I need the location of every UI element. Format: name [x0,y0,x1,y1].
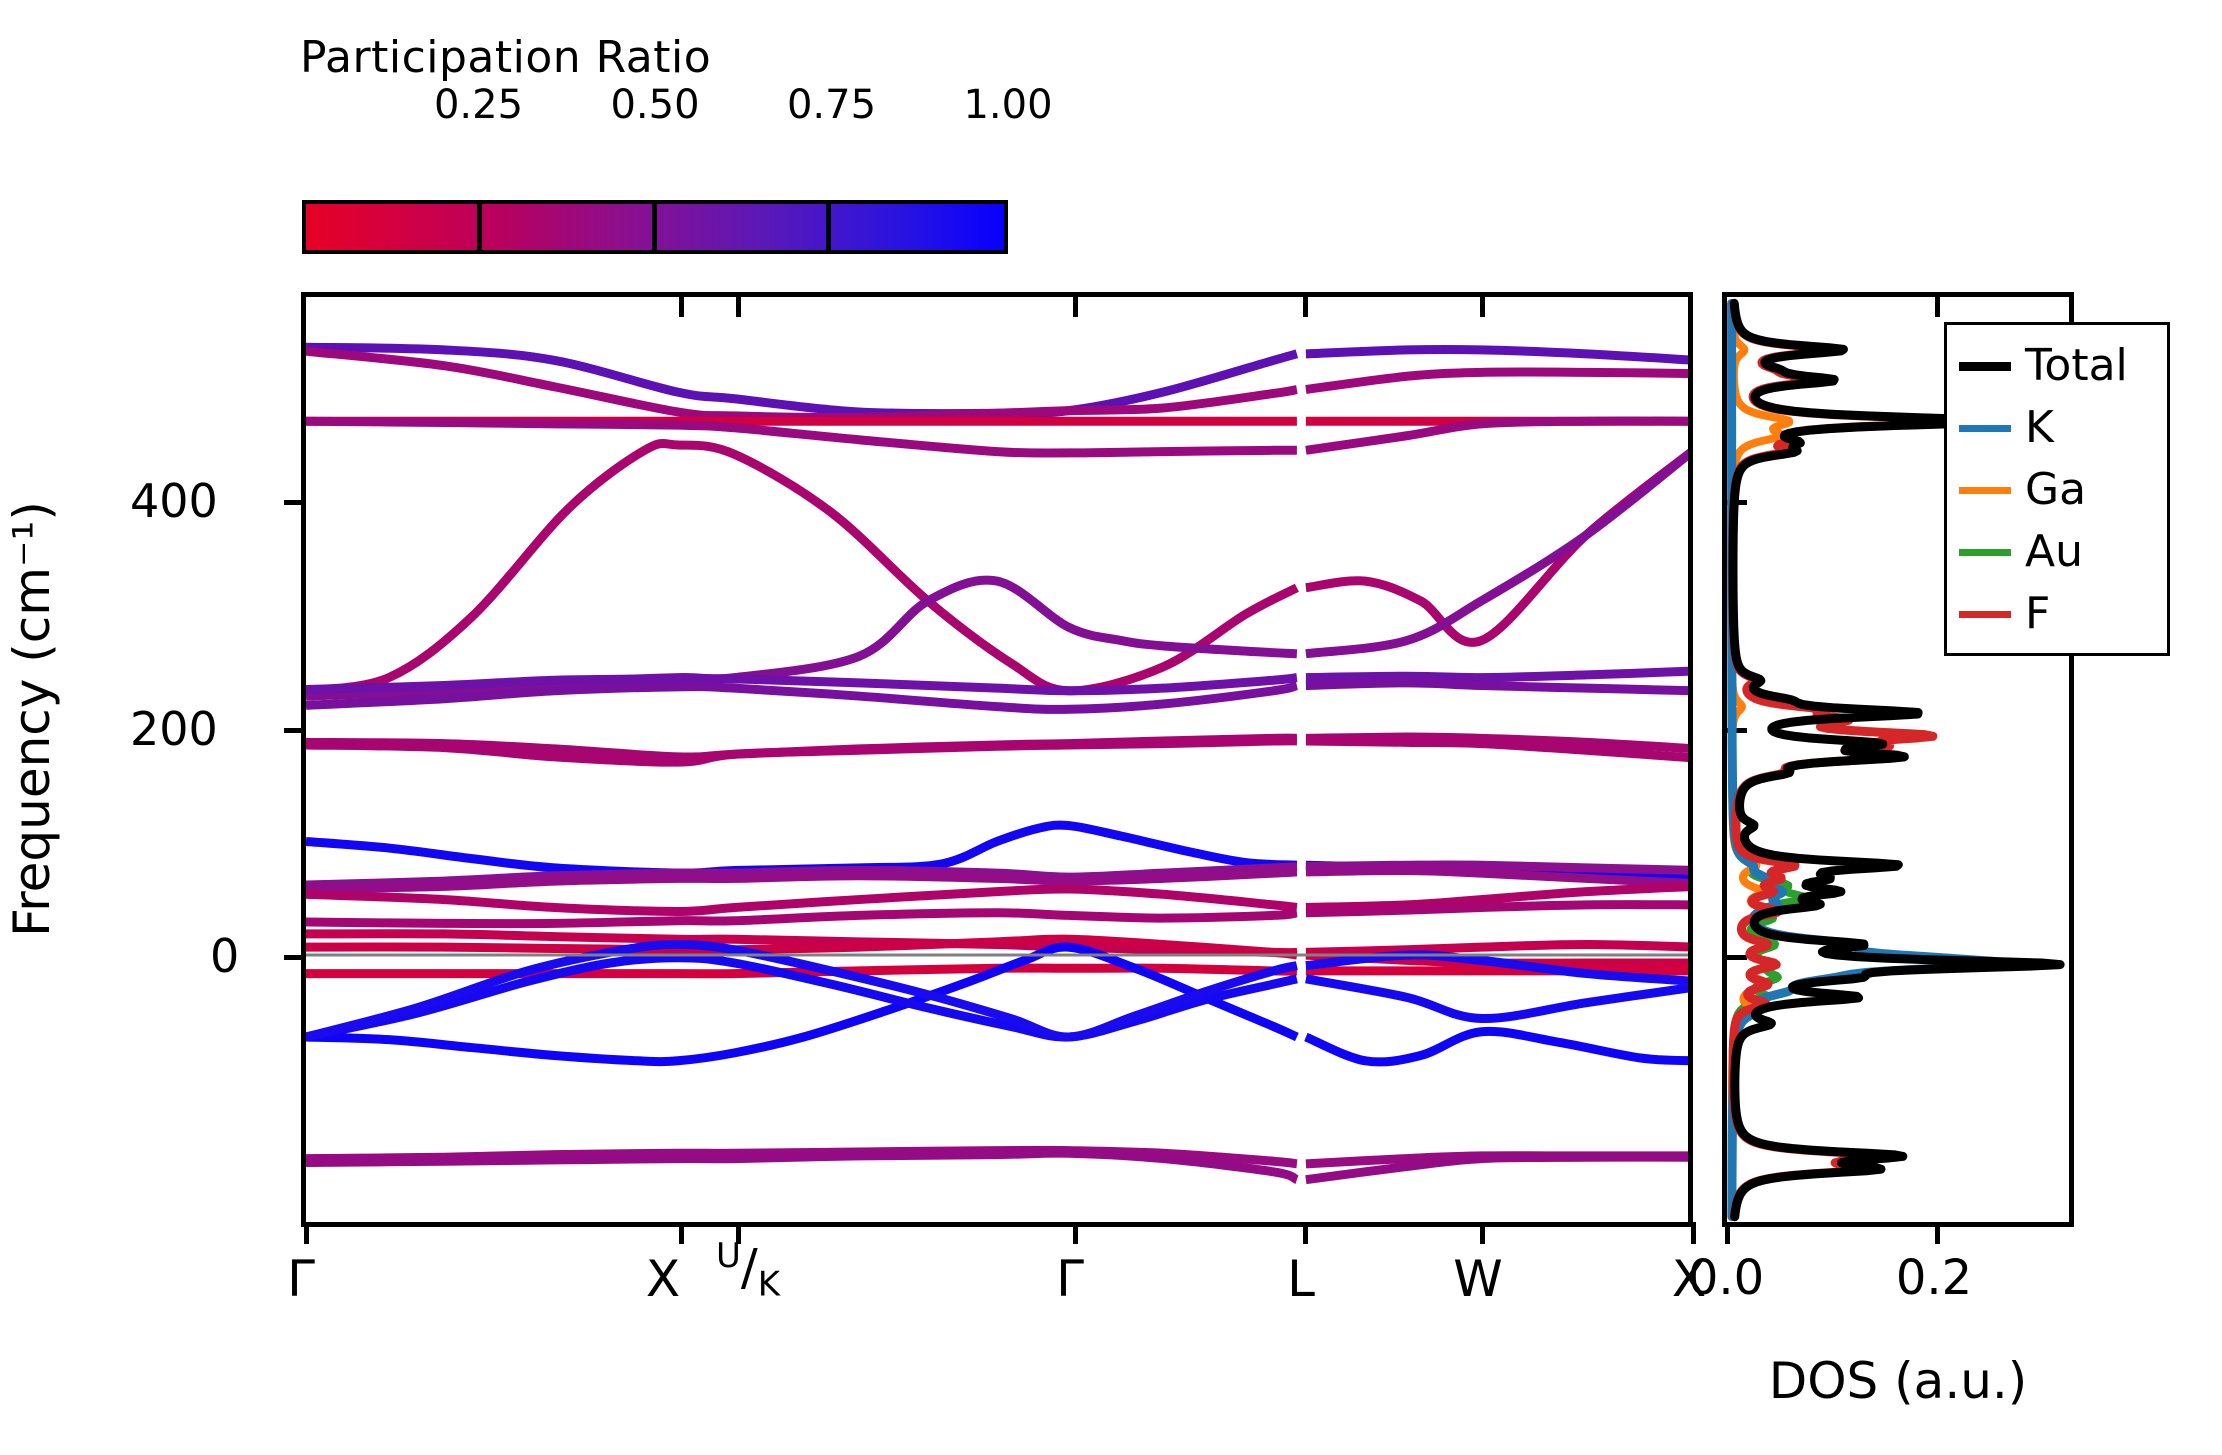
xtick-label-X1: X [646,1250,680,1308]
colorbar-tick-0.75: 0.75 [787,82,876,128]
band-curve [1306,372,1688,390]
legend-item-au[interactable]: Au [1947,521,2167,583]
band-curve [1306,448,1688,654]
band-curve [1306,1031,1688,1062]
participation-ratio-colorbar [302,200,1008,254]
legend-item-f[interactable]: F [1947,583,2167,645]
ytick-label-200: 200 [130,702,218,756]
legend-swatch-k [1959,425,2011,432]
xtick-gamma1 [304,1222,309,1244]
legend-item-k[interactable]: K [1947,397,2167,459]
legend-label-f: F [2025,592,2050,636]
xtick-label-UK: U/K [716,1236,780,1305]
ytick-400 [284,500,306,505]
band-curve [1306,349,1688,360]
xtick-gamma2 [1073,1222,1078,1244]
ytick-label-400: 400 [130,474,218,528]
legend-swatch-au [1959,549,2011,556]
band-curve [306,889,1297,912]
xtick-label-U: U [716,1236,741,1276]
band-curve [306,825,1297,873]
dos-xtick-0.2 [1935,1222,1940,1244]
band-curve [1306,683,1688,691]
band-curve [306,741,1297,762]
legend-swatch-total [1959,362,2011,371]
xtick-X1 [679,1222,684,1244]
band-curve [1306,979,1688,1019]
legend-swatch-ga [1959,487,2011,494]
legend-item-total[interactable]: Total [1947,335,2167,397]
band-curve [306,913,1297,924]
band-curve [1306,448,1688,643]
dos-xtick-label-1: 0.2 [1896,1250,1972,1306]
ytick-0 [284,955,306,960]
band-curve [306,347,1297,413]
legend-label-k: K [2025,406,2054,450]
y-axis-title: Frequency (cm⁻¹) [3,419,61,1019]
xtick-label-K: K [758,1265,780,1305]
dos-axis-title: DOS (a.u.) [1769,1352,2028,1410]
band-curve [306,443,1297,690]
colorbar-tick-0.50: 0.50 [610,82,699,128]
xtick-W [1480,1222,1485,1244]
band-curves [306,297,1688,1222]
band-curve [306,1153,1297,1180]
legend-label-ga: Ga [2025,468,2086,512]
ytick-200 [284,728,306,733]
band-structure-panel [301,292,1693,1227]
xtick-label-gamma1: Γ [287,1250,315,1308]
dos-xtick-0.0 [1725,1222,1730,1244]
dos-xtick-label-0: 0.0 [1688,1250,1764,1306]
colorbar-tick-1.00: 1.00 [963,82,1052,128]
band-curve [1306,945,1688,953]
colorbar-title: Participation Ratio [300,32,711,83]
colorbar-tick-0.25: 0.25 [434,82,523,128]
legend-label-au: Au [2025,530,2083,574]
xtick-label-W: W [1453,1250,1502,1308]
phonon-figure: Participation Ratio 0.250.500.751.00 400 [0,0,2222,1455]
xtick-label-gamma2: Γ [1056,1250,1084,1308]
band-curve [306,945,1297,1038]
band-curve [1306,671,1688,678]
legend-label-total: Total [2025,344,2128,388]
xtick-label-L: L [1287,1250,1315,1308]
band-curve [306,421,1297,453]
ytick-label-0: 0 [210,929,239,983]
legend-swatch-f [1959,611,2011,618]
xtick-X2 [1691,1222,1696,1244]
xtick-L [1303,1222,1308,1244]
legend-item-ga[interactable]: Ga [1947,459,2167,521]
dos-legend: TotalKGaAuF [1944,322,2170,656]
